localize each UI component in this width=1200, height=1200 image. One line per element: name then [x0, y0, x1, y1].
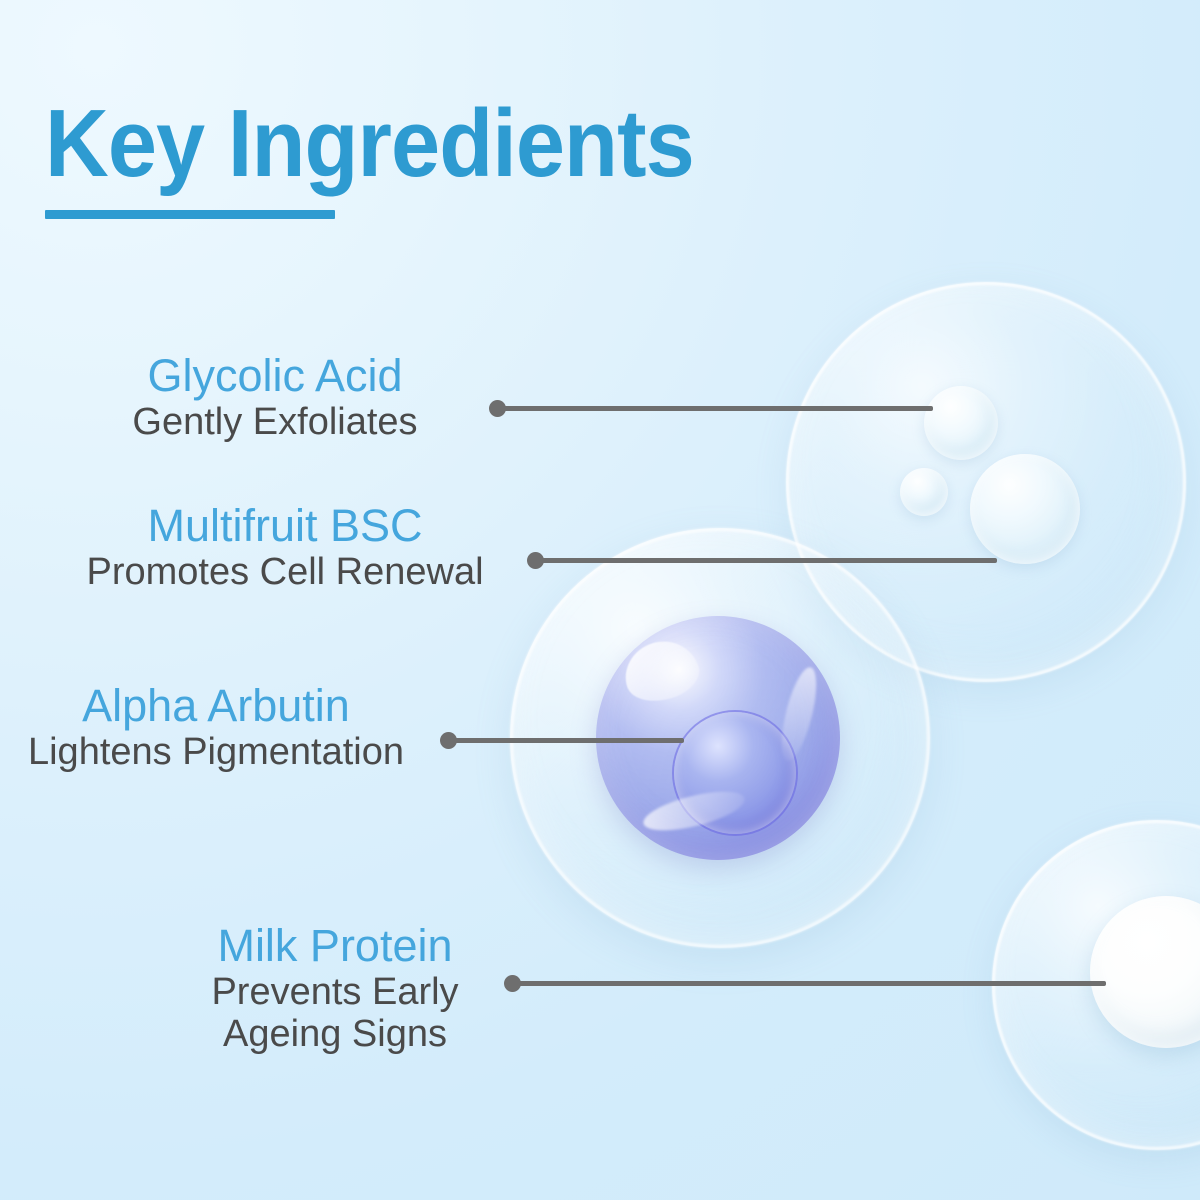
- ingredient-label-group: Alpha Arbutin Lightens Pigmentation: [0, 682, 432, 773]
- sphere-highlight-lower-icon: [640, 784, 748, 838]
- leader-line: [448, 738, 684, 743]
- leader-line: [535, 558, 997, 563]
- ingredient-name: Milk Protein: [140, 922, 530, 971]
- cream-droplet-icon: [1090, 896, 1200, 1048]
- page-title: Key Ingredients: [45, 96, 694, 192]
- ingredient-name: Alpha Arbutin: [0, 682, 432, 731]
- ingredient-benefit: Promotes Cell Renewal: [60, 551, 510, 594]
- key-ingredients-infographic: Key Ingredients Glycolic Acid Gently Exf…: [0, 0, 1200, 1200]
- gel-bubble-tiny-icon: [900, 468, 948, 516]
- page-title-block: Key Ingredients: [45, 96, 750, 219]
- ingredient-benefit: Gently Exfoliates: [70, 401, 480, 444]
- ingredient-benefit: Lightens Pigmentation: [0, 731, 432, 774]
- leader-line: [512, 981, 1106, 986]
- gel-bubble-large-icon: [970, 454, 1080, 564]
- violet-sphere-inner-bubble-icon: [674, 712, 796, 834]
- sphere-highlight-right-icon: [775, 664, 823, 763]
- ingredient-name: Glycolic Acid: [70, 352, 480, 401]
- gel-droplet-top-right: [786, 282, 1186, 682]
- leader-line: [497, 406, 933, 411]
- ingredient-benefit-line-2: Ageing Signs: [140, 1013, 530, 1056]
- ingredient-name: Multifruit BSC: [60, 502, 510, 551]
- ingredient-label-group: Milk Protein Prevents Early Ageing Signs: [140, 922, 530, 1056]
- ingredient-label-group: Glycolic Acid Gently Exfoliates: [70, 352, 480, 443]
- title-underline: [45, 210, 335, 219]
- ingredient-label-group: Multifruit BSC Promotes Cell Renewal: [60, 502, 510, 593]
- ingredient-benefit: Prevents Early: [140, 971, 530, 1014]
- sphere-highlight-upper-icon: [617, 632, 705, 710]
- gel-bubble-small-upper-icon: [924, 386, 998, 460]
- gel-droplet-top-right-rim-icon: [786, 282, 1186, 682]
